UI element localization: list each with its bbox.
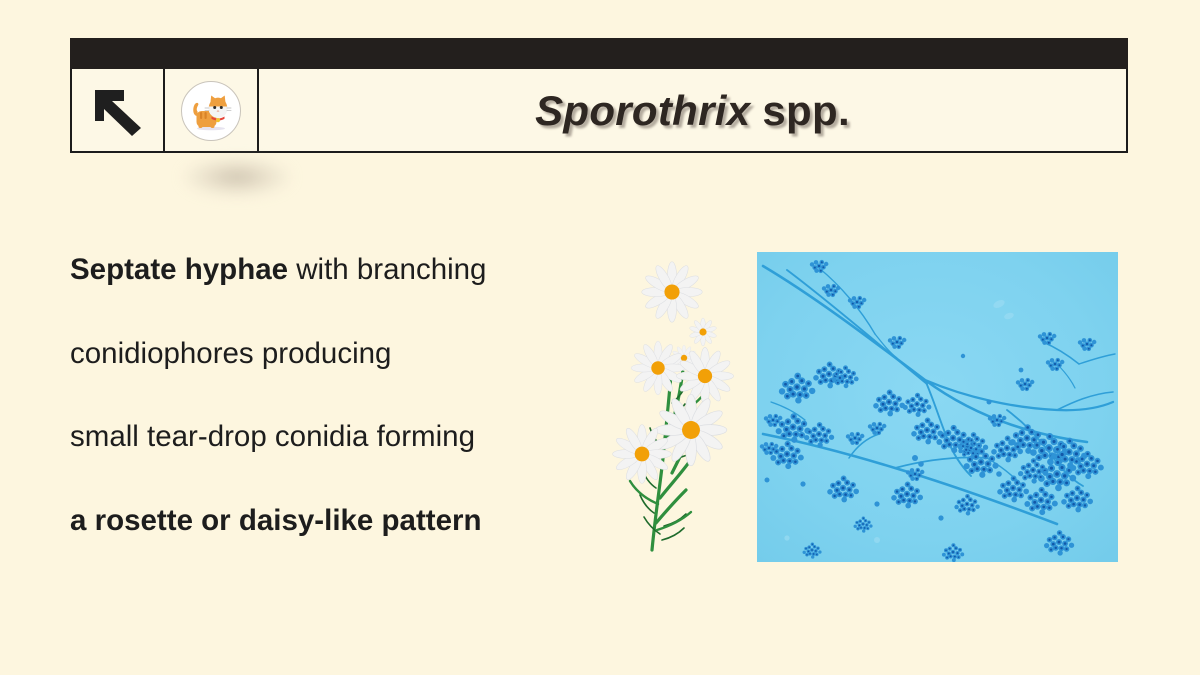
page-title: Sporothrix spp. <box>535 87 850 135</box>
title-rank: spp. <box>750 87 850 134</box>
header-row: Sporothrix spp. <box>72 69 1126 153</box>
description-line-2: conidiophores producing <box>70 339 615 369</box>
title-genus: Sporothrix <box>535 87 750 134</box>
title-cell: Sporothrix spp. <box>259 69 1126 153</box>
description-line-2-text: conidiophores producing <box>70 337 391 370</box>
avatar <box>181 81 241 141</box>
daisy-illustration <box>612 258 764 558</box>
avatar-button[interactable] <box>165 69 259 153</box>
description-text-block: Septate hyphae with branching conidiopho… <box>70 255 615 535</box>
back-button[interactable] <box>72 69 165 153</box>
blur-smudge-artifact <box>183 158 291 196</box>
header-top-bar <box>70 38 1128 69</box>
micrograph-panel <box>757 252 1118 562</box>
description-line-4-text: a rosette or daisy-like pattern <box>70 504 482 537</box>
description-line-3: small tear-drop conidia forming <box>70 422 615 452</box>
description-line-4: a rosette or daisy-like pattern <box>70 506 615 536</box>
cat-avatar-icon <box>186 86 236 136</box>
description-line-1-bold: Septate hyphae <box>70 253 288 286</box>
header-card: Sporothrix spp. <box>70 38 1128 153</box>
daisy-flowers-icon <box>612 258 764 558</box>
sporothrix-micrograph-image <box>757 252 1118 562</box>
back-arrow-up-left-icon <box>91 86 145 136</box>
description-line-3-text: small tear-drop conidia forming <box>70 420 475 453</box>
description-line-1: Septate hyphae with branching <box>70 255 615 285</box>
description-line-1-rest: with branching <box>288 253 486 286</box>
